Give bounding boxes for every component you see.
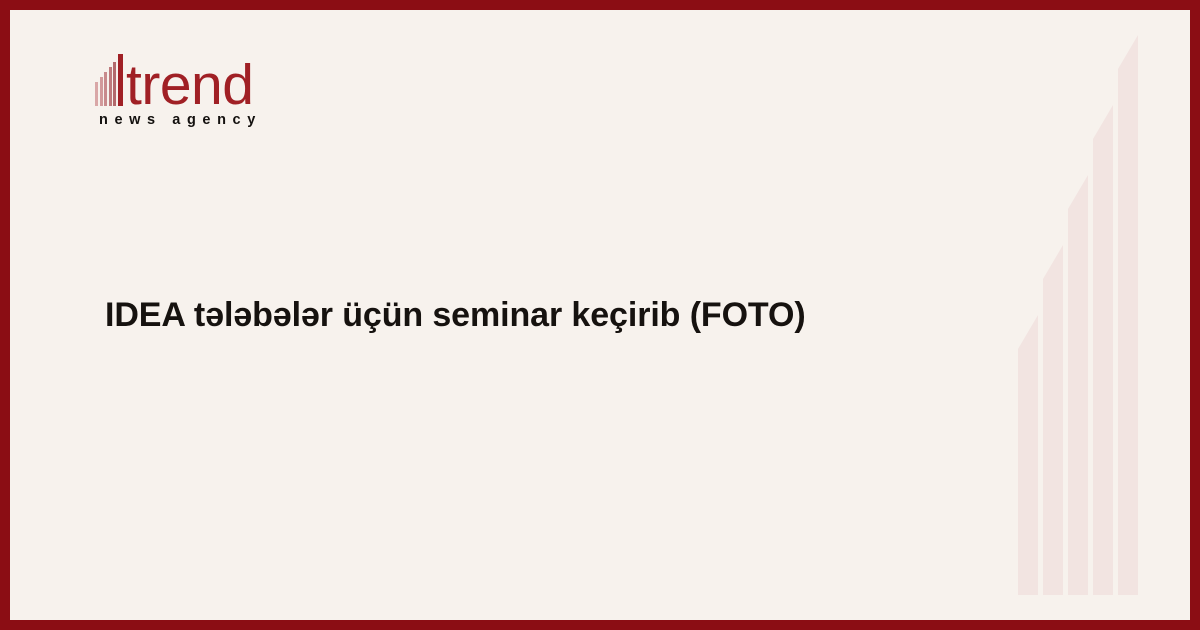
watermark-bar [1093,105,1113,595]
headline-container: IDEA tələbələr üçün seminar keçirib (FOT… [105,10,935,620]
watermark-bar-cap [1018,315,1038,349]
watermark-bar-cap [1118,35,1138,69]
watermark-bar [1118,35,1138,595]
ascending-bars-watermark [990,10,1190,620]
article-share-card: trend news agency IDEA tələbələr üçün se… [0,0,1200,630]
watermark-bar-cap [1068,175,1088,209]
watermark-bar [1043,245,1063,595]
watermark-bar-cap [1093,105,1113,139]
watermark-bar [1018,315,1038,595]
logo-mark-bar [100,77,103,106]
watermark-bar-cap [1043,245,1063,279]
watermark-bar [1068,175,1088,595]
article-headline: IDEA tələbələr üçün seminar keçirib (FOT… [105,293,806,337]
logo-mark-bar [95,82,98,106]
